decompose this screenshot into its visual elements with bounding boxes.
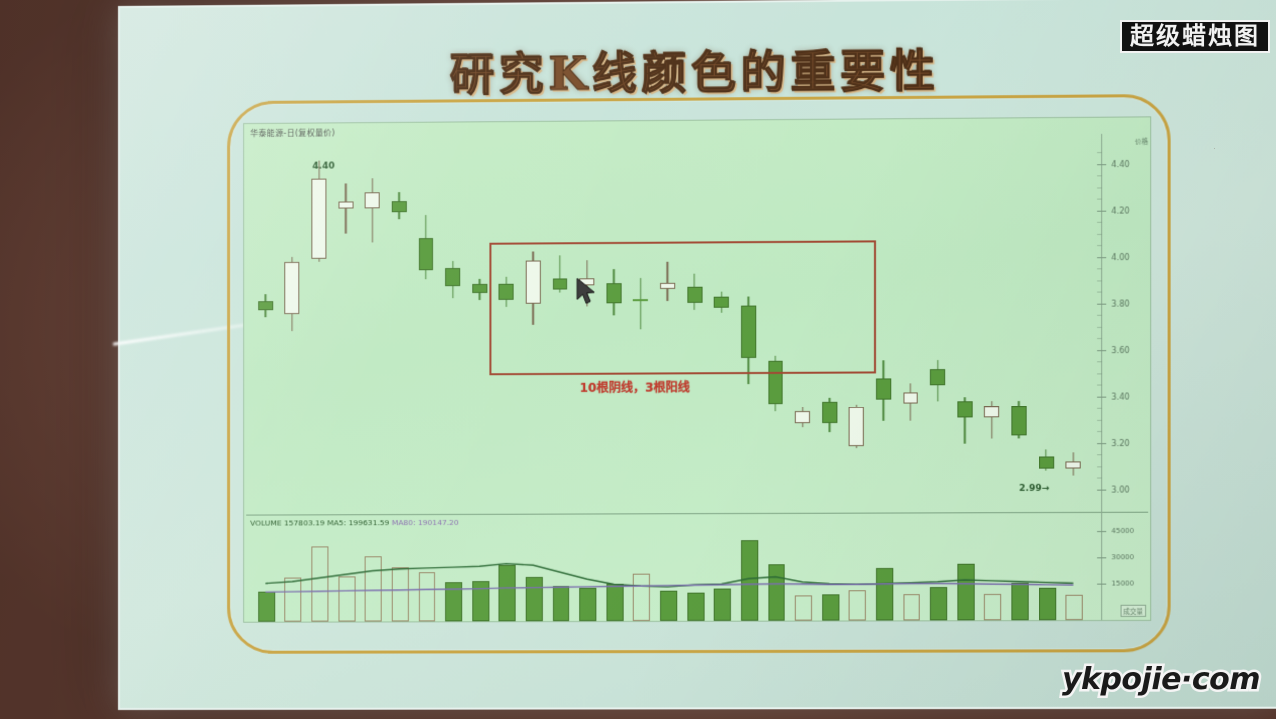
candle-wick (345, 183, 346, 234)
candle-body (1011, 406, 1026, 436)
price-minor-tick (1097, 303, 1102, 304)
price-minor-tick (1097, 396, 1102, 397)
candle-body (984, 406, 999, 417)
price-tick-label: 3.40 (1111, 392, 1129, 401)
candlestick (365, 139, 380, 510)
candle-body (849, 407, 864, 446)
candlestick (472, 138, 487, 510)
watermark-bottom-right: ykpojie·com (1062, 662, 1260, 697)
candlestick (258, 140, 273, 511)
price-minor-tick (1097, 408, 1102, 409)
candle-body (311, 179, 326, 259)
candle-body (472, 284, 487, 293)
candle-body (930, 369, 945, 385)
volume-tick (1097, 557, 1106, 558)
price-minor-tick (1097, 292, 1102, 293)
price-minor-tick (1097, 187, 1102, 188)
candle-body (392, 201, 407, 212)
price-pane[interactable]: 4.40 (244, 134, 1150, 511)
price-minor-tick (1097, 419, 1102, 420)
axis-bottom-badge: 成交量 (1120, 605, 1146, 617)
price-minor-tick (1097, 443, 1102, 444)
volume-tick (1097, 583, 1106, 584)
price-minor-tick (1097, 315, 1102, 316)
candle-body (365, 192, 380, 208)
candlestick (1011, 134, 1026, 508)
price-pointer-annotation: 2.99→ (1019, 484, 1049, 494)
price-minor-tick (1097, 454, 1102, 455)
price-minor-tick (1097, 466, 1102, 467)
candle-body (957, 401, 972, 417)
price-minor-tick (1097, 257, 1102, 258)
price-tick-label: 4.20 (1111, 206, 1129, 215)
candlestick (392, 139, 407, 510)
candlestick (1066, 134, 1081, 508)
candlestick (876, 135, 891, 508)
candlestick (984, 135, 999, 509)
price-minor-tick (1097, 373, 1102, 374)
stock-chart-panel[interactable]: 华泰能源-日(复权量价) 4.40 VOLUME 157803.19 MA5: … (243, 116, 1151, 622)
chart-header-label: 华泰能源-日(复权量价) (250, 127, 335, 139)
candlestick (338, 139, 353, 510)
candle-body (795, 411, 810, 422)
price-tick-label: 3.60 (1111, 345, 1129, 354)
price-minor-tick (1097, 153, 1102, 154)
candle-body (876, 379, 891, 400)
candle-wick (372, 178, 373, 242)
price-minor-tick (1097, 327, 1102, 328)
price-tick-label: 3.00 (1111, 484, 1129, 493)
volume-tick-label: 45000 (1111, 527, 1134, 535)
candlestick (930, 135, 945, 508)
candle-body (418, 238, 433, 270)
price-minor-tick (1097, 164, 1102, 165)
price-tick-label: 4.40 (1111, 159, 1129, 168)
price-minor-tick (1097, 361, 1102, 362)
price-minor-tick (1097, 211, 1102, 212)
candle-body (445, 268, 460, 286)
projected-slide: 研究K线颜色的重要性 华泰能源-日(复权量价) 4.40 VOLUME 1578… (118, 0, 1276, 710)
candle-body (338, 202, 353, 209)
volume-pane[interactable] (244, 514, 1150, 622)
axis-rule (1101, 134, 1102, 620)
price-minor-tick (1097, 338, 1102, 339)
pattern-annotation: 10根阴线，3根阳线 (580, 378, 690, 396)
price-minor-tick (1097, 176, 1102, 177)
price-minor-tick (1097, 222, 1102, 223)
ma-line-ma80 (266, 583, 1074, 592)
candlestick (1039, 134, 1054, 508)
price-tick-label: 4.00 (1111, 252, 1129, 261)
candlestick (311, 139, 326, 510)
candlestick (445, 139, 460, 510)
volume-tick (1097, 531, 1106, 532)
candlestick (903, 135, 918, 508)
volume-tick-label: 15000 (1111, 579, 1134, 587)
price-minor-tick (1097, 431, 1102, 432)
price-tick-label: 3.80 (1111, 299, 1129, 308)
volume-tick-label: 30000 (1111, 553, 1134, 561)
price-axis: 价格 成交量 4.404.204.003.803.603.403.203.004… (1097, 134, 1150, 620)
candlestick (285, 140, 300, 511)
highlight-rectangle (489, 240, 876, 375)
price-minor-tick (1097, 245, 1102, 246)
axis-corner-label: 价格 (1135, 136, 1148, 146)
price-minor-tick (1097, 199, 1102, 200)
candlestick (418, 139, 433, 510)
price-minor-tick (1097, 385, 1102, 386)
watermark-top-right: 超级蜡烛图 (1120, 20, 1270, 53)
candle-body (1039, 457, 1054, 468)
candle-body (1066, 461, 1081, 468)
price-minor-tick (1097, 478, 1102, 479)
candle-body (903, 392, 918, 403)
candlestick (957, 135, 972, 508)
price-minor-tick (1097, 489, 1102, 490)
price-minor-tick (1097, 269, 1102, 270)
price-minor-tick (1097, 234, 1102, 235)
candle-body (258, 301, 273, 310)
price-tick-label: 3.20 (1111, 438, 1129, 447)
candle-body (285, 262, 300, 315)
volume-ma-lines (244, 524, 1097, 622)
price-minor-tick (1097, 350, 1102, 351)
screen: 研究K线颜色的重要性 华泰能源-日(复权量价) 4.40 VOLUME 1578… (0, 0, 1276, 719)
price-minor-tick (1097, 280, 1102, 281)
candle-body (822, 402, 837, 423)
